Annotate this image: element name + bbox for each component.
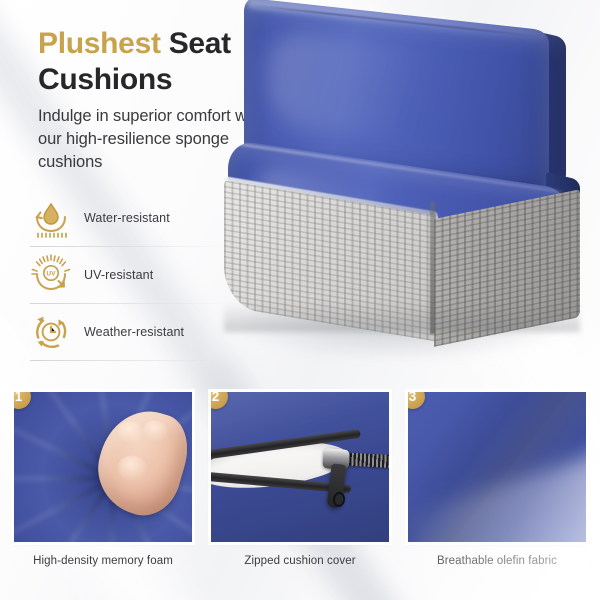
feature-row-uv: UV UV-resistant — [28, 247, 225, 303]
panel-caption-1: High-density memory foam — [14, 555, 192, 567]
detail-panels: 1 High-density memory foam 2 Zipped cush… — [14, 392, 586, 592]
detail-panel-1: 1 High-density memory foam — [14, 392, 192, 567]
feature-row-weather: Weather-resistant — [28, 304, 225, 360]
feature-divider-3 — [30, 360, 225, 361]
uv-sun-icon: UV — [28, 252, 74, 298]
feature-label-uv: UV-resistant — [84, 268, 153, 282]
headline-accent-word: Plushest — [38, 27, 161, 60]
feature-list: Water-resistant UV — [28, 190, 225, 361]
detail-image-2: 2 — [211, 392, 389, 542]
weather-clock-icon — [28, 309, 74, 355]
olefin-fabric-swatch — [408, 392, 586, 542]
feature-label-water: Water-resistant — [84, 211, 170, 225]
detail-panel-3: 3 Breathable olefin fabric — [408, 392, 586, 567]
feature-label-weather: Weather-resistant — [84, 325, 184, 339]
panel-caption-3: Breathable olefin fabric — [408, 555, 586, 567]
detail-image-3: 3 — [408, 392, 586, 542]
water-drop-icon — [28, 195, 74, 241]
wicker-base — [224, 198, 582, 346]
panel-caption-2: Zipped cushion cover — [211, 555, 389, 567]
detail-panel-2: 2 Zipped cushion cover — [211, 392, 389, 567]
product-image — [218, 0, 600, 385]
feature-row-water: Water-resistant — [28, 190, 225, 246]
product-infographic: Plushest Seat Cushions Indulge in superi… — [0, 0, 600, 600]
svg-text:UV: UV — [46, 271, 56, 278]
detail-image-1: 1 — [14, 392, 192, 542]
wicker-bottom-shadow — [224, 302, 580, 332]
